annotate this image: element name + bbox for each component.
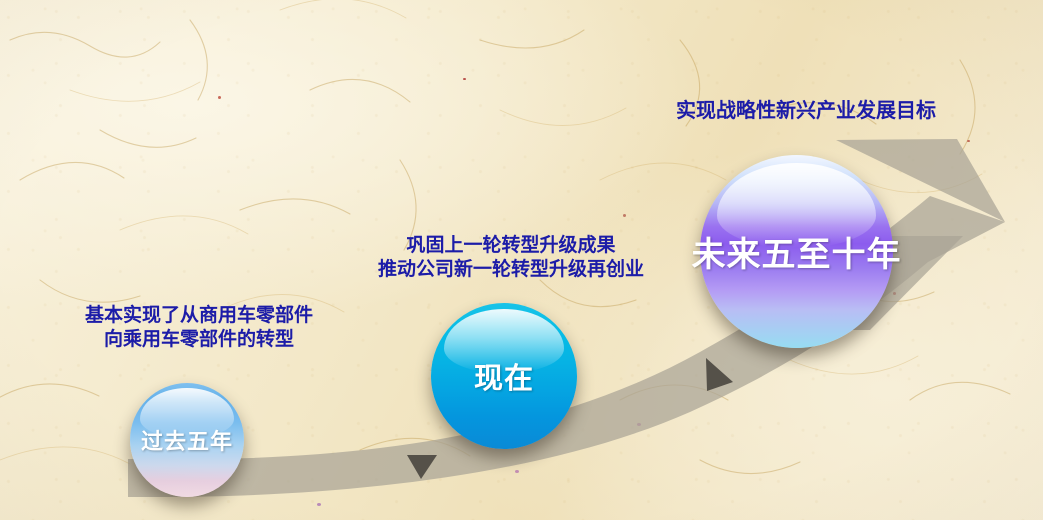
caption-present-line-1: 巩固上一轮转型升级成果: [340, 234, 682, 258]
stage-sphere-present-label: 现在: [474, 355, 534, 397]
caption-past: 基本实现了从商用车零部件 向乘用车零部件的转型: [44, 304, 354, 353]
caption-past-line-1: 基本实现了从商用车零部件: [44, 304, 354, 328]
presentation-slide: 基本实现了从商用车零部件 向乘用车零部件的转型 巩固上一轮转型升级成果 推动公司…: [0, 0, 1043, 520]
stage-sphere-past-label: 过去五年: [141, 424, 233, 456]
caption-future: 实现战略性新兴产业发展目标: [636, 99, 976, 125]
caption-present-line-2: 推动公司新一轮转型升级再创业: [340, 258, 682, 282]
caption-present: 巩固上一轮转型升级成果 推动公司新一轮转型升级再创业: [340, 234, 682, 283]
caption-past-line-2: 向乘用车零部件的转型: [44, 328, 354, 352]
caption-future-line-1: 实现战略性新兴产业发展目标: [636, 99, 976, 125]
stage-sphere-future-label: 未来五至十年: [692, 227, 902, 276]
